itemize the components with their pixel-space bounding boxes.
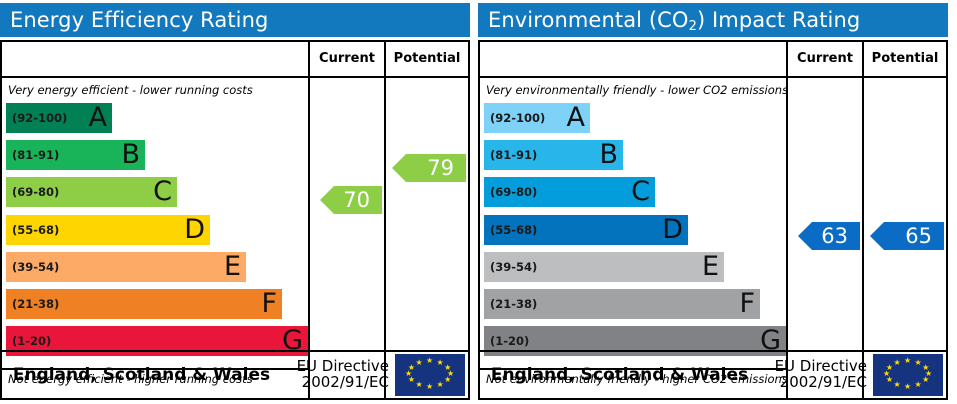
rating-band-F: (21-38)F: [6, 289, 282, 319]
band-range-E: (39-54): [484, 260, 537, 274]
band-range-G: (1-20): [484, 334, 529, 348]
band-range-D: (55-68): [6, 223, 59, 237]
band-range-B: (81-91): [484, 148, 537, 162]
caption-top: Very environmentally friendly - lower CO…: [486, 83, 788, 97]
band-range-C: (69-80): [484, 185, 537, 199]
band-letter-D: D: [184, 216, 205, 243]
rating-band-B: (81-91)B: [484, 140, 623, 170]
band-letter-A: A: [89, 104, 107, 131]
chart-title-co2-impact: Environmental (CO2) Impact Rating: [478, 3, 948, 37]
rating-band-D: (55-68)D: [484, 215, 688, 245]
column-separator-potential: [862, 42, 864, 398]
column-header-potential: Potential: [864, 42, 946, 76]
column-header-current: Current: [310, 42, 384, 76]
rating-band-E: (39-54)E: [484, 252, 724, 282]
current-rating-arrow-value: 63: [821, 224, 848, 248]
rating-band-E: (39-54)E: [6, 252, 246, 282]
potential-rating-arrow: 65: [870, 222, 944, 250]
band-letter-B: B: [599, 141, 618, 168]
band-letter-C: C: [631, 178, 650, 205]
rating-band-A: (92-100)A: [6, 103, 112, 133]
band-letter-F: F: [261, 290, 277, 317]
column-separator-current: [308, 42, 310, 398]
column-header-potential: Potential: [386, 42, 468, 76]
eu-flag-icon: [395, 354, 465, 396]
chart-title-text: Energy Efficiency Rating: [10, 8, 268, 32]
potential-rating-arrow-value: 79: [427, 156, 454, 180]
band-range-B: (81-91): [6, 148, 59, 162]
column-separator-potential: [384, 42, 386, 398]
chart-body-co2-impact: CurrentPotentialVery environmentally fri…: [478, 40, 948, 400]
band-range-F: (21-38): [6, 297, 59, 311]
certificate-energy-efficiency: Energy Efficiency RatingCurrentPotential…: [0, 0, 470, 404]
eu-flag-icon: [873, 354, 943, 396]
band-letter-F: F: [739, 290, 755, 317]
rating-bands: (92-100)A(81-91)B(69-80)C(55-68)D(39-54)…: [484, 103, 786, 365]
band-letter-A: A: [567, 104, 585, 131]
band-range-A: (92-100): [484, 111, 545, 125]
current-rating-arrow: 70: [320, 186, 382, 214]
footer-row: England, Scotland & WalesEU Directive200…: [2, 350, 468, 398]
footer-region-label: England, Scotland & Wales: [2, 365, 277, 385]
caption-top: Very energy efficient - lower running co…: [8, 83, 253, 97]
rating-band-A: (92-100)A: [484, 103, 590, 133]
chart-body-energy-efficiency: CurrentPotentialVery energy efficient - …: [0, 40, 470, 400]
directive-line-2: 2002/91/EC: [277, 375, 389, 391]
footer-directive-label: EU Directive2002/91/EC: [755, 359, 873, 391]
rating-band-F: (21-38)F: [484, 289, 760, 319]
chart-title-text: Environmental (CO: [488, 8, 689, 32]
band-letter-E: E: [702, 253, 719, 280]
band-range-F: (21-38): [484, 297, 537, 311]
chart-title-text-suffix: ) Impact Rating: [697, 8, 860, 32]
band-range-G: (1-20): [6, 334, 51, 348]
epc-rating-charts: Energy Efficiency RatingCurrentPotential…: [0, 0, 957, 404]
footer-region-label: England, Scotland & Wales: [480, 365, 755, 385]
table-header-row: CurrentPotential: [480, 42, 946, 78]
band-range-E: (39-54): [6, 260, 59, 274]
rating-bands: (92-100)A(81-91)B(69-80)C(55-68)D(39-54)…: [6, 103, 308, 365]
column-header-current: Current: [788, 42, 862, 76]
potential-rating-arrow-value: 65: [905, 224, 932, 248]
band-range-D: (55-68): [484, 223, 537, 237]
band-range-A: (92-100): [6, 111, 67, 125]
band-letter-D: D: [662, 216, 683, 243]
certificate-co2-impact: Environmental (CO2) Impact RatingCurrent…: [478, 0, 948, 404]
band-letter-B: B: [121, 141, 140, 168]
table-header-row: CurrentPotential: [2, 42, 468, 78]
footer-directive-label: EU Directive2002/91/EC: [277, 359, 395, 391]
potential-rating-arrow: 79: [392, 154, 466, 182]
rating-band-C: (69-80)C: [6, 177, 177, 207]
rating-band-D: (55-68)D: [6, 215, 210, 245]
current-rating-arrow-value: 70: [343, 188, 370, 212]
chart-title-energy-efficiency: Energy Efficiency Rating: [0, 3, 470, 37]
directive-line-2: 2002/91/EC: [755, 375, 867, 391]
footer-row: England, Scotland & WalesEU Directive200…: [480, 350, 946, 398]
band-letter-E: E: [224, 253, 241, 280]
band-range-C: (69-80): [6, 185, 59, 199]
band-letter-C: C: [153, 178, 172, 205]
rating-band-B: (81-91)B: [6, 140, 145, 170]
rating-band-C: (69-80)C: [484, 177, 655, 207]
chart-title-subscript: 2: [689, 19, 697, 34]
current-rating-arrow: 63: [798, 222, 860, 250]
